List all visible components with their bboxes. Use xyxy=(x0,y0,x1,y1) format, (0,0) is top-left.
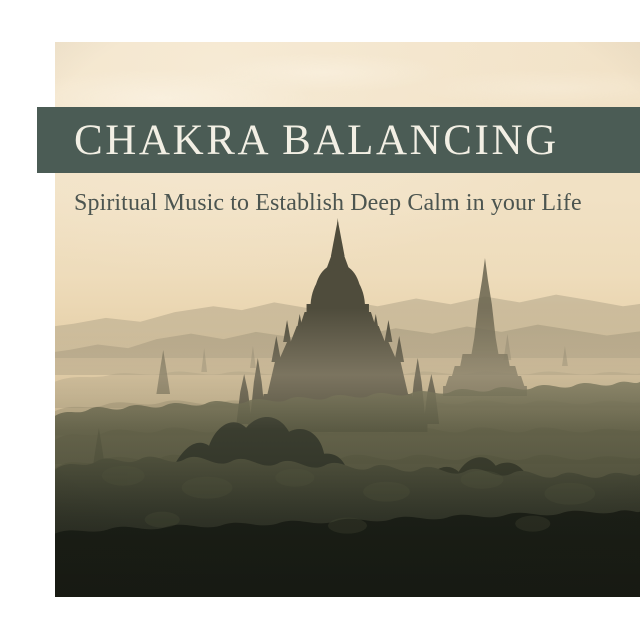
album-cover: CHAKRA BALANCING Spiritual Music to Esta… xyxy=(0,0,640,640)
album-title: CHAKRA BALANCING xyxy=(74,119,559,162)
foreground-canopy xyxy=(55,320,640,598)
title-banner: CHAKRA BALANCING xyxy=(37,107,640,173)
album-subtitle: Spiritual Music to Establish Deep Calm i… xyxy=(74,190,582,216)
